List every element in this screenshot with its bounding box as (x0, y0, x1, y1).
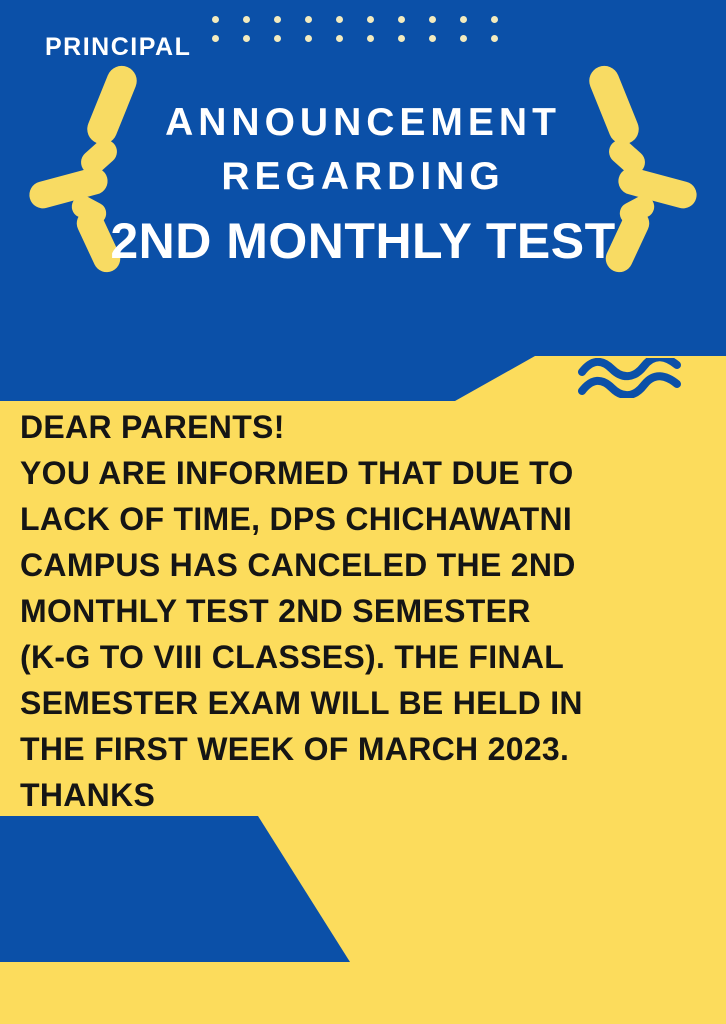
dot-icon (398, 35, 405, 42)
principal-signature: PRINCIPAL (45, 33, 191, 62)
headline-line-3: 2ND MONTHLY TEST (0, 210, 726, 272)
dot-icon (460, 16, 467, 23)
body-line: THANKS (20, 772, 712, 818)
body-line: CAMPUS HAS CANCELED THE 2ND (20, 542, 712, 588)
dot-grid-decoration (200, 10, 510, 48)
body-line: SEMESTER EXAM WILL BE HELD IN (20, 680, 712, 726)
announcement-poster: ANNOUNCEMENT REGARDING 2ND MONTHLY TEST … (0, 0, 726, 1024)
dot-icon (429, 35, 436, 42)
dot-icon (305, 35, 312, 42)
dot-icon (212, 35, 219, 42)
body-line: LACK OF TIME, DPS CHICHAWATNI (20, 496, 712, 542)
dot-icon (243, 16, 250, 23)
dot-icon (367, 16, 374, 23)
dot-icon (305, 16, 312, 23)
dot-icon (429, 16, 436, 23)
announcement-body: DEAR PARENTS! YOU ARE INFORMED THAT DUE … (20, 404, 712, 818)
dot-icon (460, 35, 467, 42)
headline-line-1: ANNOUNCEMENT (0, 96, 726, 150)
dot-icon (212, 16, 219, 23)
dot-icon (491, 16, 498, 23)
dot-icon (274, 35, 281, 42)
dot-icon (274, 16, 281, 23)
principal-banner (0, 816, 360, 962)
body-line: DEAR PARENTS! (20, 404, 712, 450)
dot-icon (243, 35, 250, 42)
wave-mark-icon (578, 358, 682, 398)
headline-line-2: REGARDING (0, 150, 726, 204)
body-line: THE FIRST WEEK OF MARCH 2023. (20, 726, 712, 772)
dot-icon (336, 16, 343, 23)
body-line: (K-G TO VIII CLASSES). THE FINAL (20, 634, 712, 680)
body-line: YOU ARE INFORMED THAT DUE TO (20, 450, 712, 496)
dot-icon (367, 35, 374, 42)
poster-headline: ANNOUNCEMENT REGARDING 2ND MONTHLY TEST (0, 96, 726, 272)
dot-icon (491, 35, 498, 42)
dot-icon (398, 16, 405, 23)
dot-icon (336, 35, 343, 42)
body-line: MONTHLY TEST 2ND SEMESTER (20, 588, 712, 634)
